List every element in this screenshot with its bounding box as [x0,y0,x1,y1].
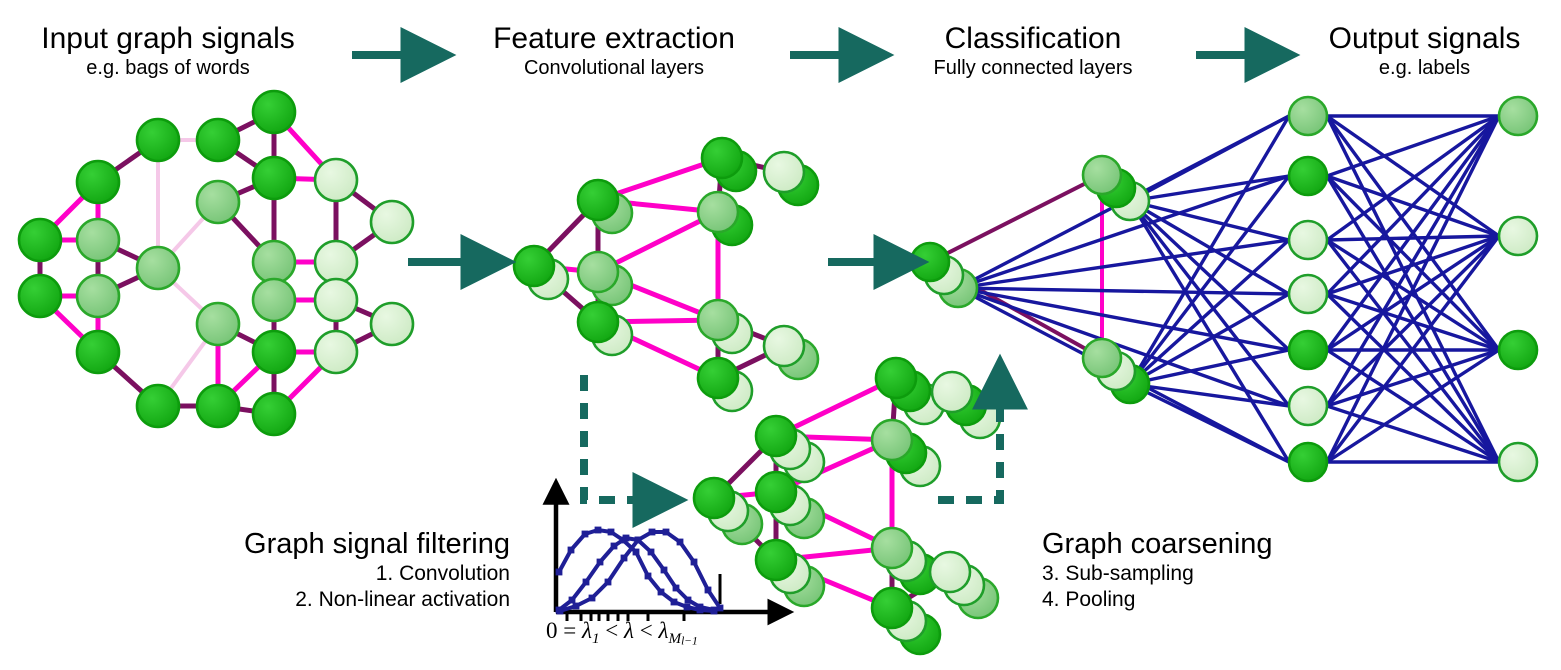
header-output: Output signals e.g. labels [1288,22,1561,80]
header-output-subtitle: e.g. labels [1288,56,1561,80]
mlp-edge [1327,350,1499,406]
filter-curve-marker [648,549,655,556]
graph-node [253,331,295,373]
mlp-node [1499,217,1537,255]
graph-node [253,91,295,133]
graph-node [876,358,916,398]
formula-lt-2: < [640,618,653,643]
filter-curve-marker [583,579,590,586]
footer-filtering-step-1: 1. Convolution [198,561,510,587]
graph-node [253,241,295,283]
formula-lambda-M-sub2: l−1 [681,635,698,647]
filter-curve-marker [697,604,704,611]
graph-node [137,247,179,289]
filter-curve-marker [711,607,718,614]
mlp-node [1499,443,1537,481]
filter-curve-marker [557,608,564,615]
mlp-node [1499,97,1537,135]
graph-node [197,119,239,161]
graph-node [756,540,796,580]
header-classification-title: Classification [873,22,1193,56]
graph-node [702,138,742,178]
graph-node [371,303,413,345]
header-input: Input graph signals e.g. bags of words [0,22,336,80]
formula-zero: 0 = [546,618,576,643]
filter-curve-marker [582,531,589,538]
footer-filtering-step-2: 2. Non-linear activation [198,587,510,613]
header-feature: Feature extraction Convolutional layers [454,22,774,80]
filter-curve-marker [671,599,678,606]
mlp-edge [1327,236,1499,240]
filter-curve-marker [608,529,615,536]
filter-curve-marker [623,535,630,542]
graph-node [315,159,357,201]
mlp-node [1289,275,1327,313]
graph-node [1083,339,1121,377]
formula-lambda: λ [624,618,634,643]
filter-curve-marker [645,573,652,580]
footer-coarsening: Graph coarsening 3. Sub-sampling 4. Pool… [1042,528,1362,613]
graph-node [578,180,618,220]
filter-curve-marker [556,569,563,576]
graph-node [872,420,912,460]
mlp-node [1289,221,1327,259]
filter-curve-marker [605,579,612,586]
header-feature-title: Feature extraction [454,22,774,56]
mlp-edges [930,116,1499,462]
graph-node [197,303,239,345]
graph-node [315,279,357,321]
graph-node [930,552,970,592]
graph-node [371,201,413,243]
graph-node [872,528,912,568]
diagram-canvas: Input graph signals e.g. bags of words F… [0,0,1561,670]
filter-curve-marker [589,595,596,602]
graph-node [756,416,796,456]
graph-node [315,331,357,373]
filter-curve-marker [568,547,575,554]
filter-curve-marker [569,597,576,604]
dashed-arrow-filtering [584,375,650,500]
mlp-node [1289,331,1327,369]
header-input-subtitle: e.g. bags of words [0,56,336,80]
filter-curve-marker [691,559,698,566]
footer-filtering: Graph signal filtering 1. Convolution 2.… [198,528,510,613]
mlp-edge [1130,201,1289,406]
graph-node [764,326,804,366]
graph-node [77,331,119,373]
graph-node [764,152,804,192]
mlp-edge [1130,294,1289,384]
graph-node [578,252,618,292]
graph-node [514,246,554,286]
mlp-node [1289,387,1327,425]
graph-node [698,192,738,232]
filter-curve-marker [663,529,670,536]
formula-lt-1: < [605,618,618,643]
graph-node [315,241,357,283]
graph-node [698,358,738,398]
formula-lambda-1: λ [582,618,592,643]
formula-lambda-M: λ [658,618,668,643]
graph-node [19,275,61,317]
mlp-edge [1327,406,1499,462]
filter-curve-marker [597,559,604,566]
graph-node [872,588,912,628]
graph-node [578,302,618,342]
graph-node [137,385,179,427]
header-classification: Classification Fully connected layers [873,22,1193,80]
filter-curve-marker [684,604,691,611]
graph-node [1083,156,1121,194]
filter-curve-marker [633,549,640,556]
graph-node [756,472,796,512]
graph-node [253,279,295,321]
mlp-edge [1130,201,1289,350]
graph-node [253,393,295,435]
mlp-edge [958,288,1289,294]
graph-node [694,478,734,518]
header-output-title: Output signals [1288,22,1561,56]
filter-curve-marker [673,585,680,592]
footer-coarsening-step-4: 4. Pooling [1042,587,1362,613]
filter-curve-marker [661,567,668,574]
filter-curve-marker [621,555,628,562]
filter-curve-marker [685,597,692,604]
filter-curve-marker [649,529,656,536]
graph-node [698,300,738,340]
mlp-edge [1130,240,1289,384]
filter-curve-marker [705,587,712,594]
graph-node [137,119,179,161]
filter-curve-marker [658,589,665,596]
graph-node [253,157,295,199]
formula-lambda-1-sub: 1 [592,630,600,647]
graph-node [911,243,949,281]
header-input-title: Input graph signals [0,22,336,56]
graph-node [197,385,239,427]
graph-node [77,161,119,203]
graph-node [77,219,119,261]
filter-curve-marker [595,527,602,534]
graph-node [77,275,119,317]
filter-curve-marker [573,603,580,610]
mlp-node [1289,97,1327,135]
filter-curve-marker [677,539,684,546]
filter-curve-marker [635,537,642,544]
filter-curve-marker [611,543,618,550]
footer-filtering-title: Graph signal filtering [198,528,510,561]
graph-node [197,181,239,223]
mlp-node [1499,331,1537,369]
formula-lambda-M-sub: M [668,630,681,647]
graph-node [19,219,61,261]
filter-curve-marker [717,605,724,612]
header-feature-subtitle: Convolutional layers [454,56,774,80]
header-classification-subtitle: Fully connected layers [873,56,1193,80]
mlp-node [1289,157,1327,195]
footer-coarsening-title: Graph coarsening [1042,528,1362,561]
eigenvalue-range-formula: 0 = λ1 < λ < λMl−1 [546,618,698,648]
graph-node [932,372,972,412]
footer-coarsening-step-3: 3. Sub-sampling [1042,561,1362,587]
mlp-node [1289,443,1327,481]
